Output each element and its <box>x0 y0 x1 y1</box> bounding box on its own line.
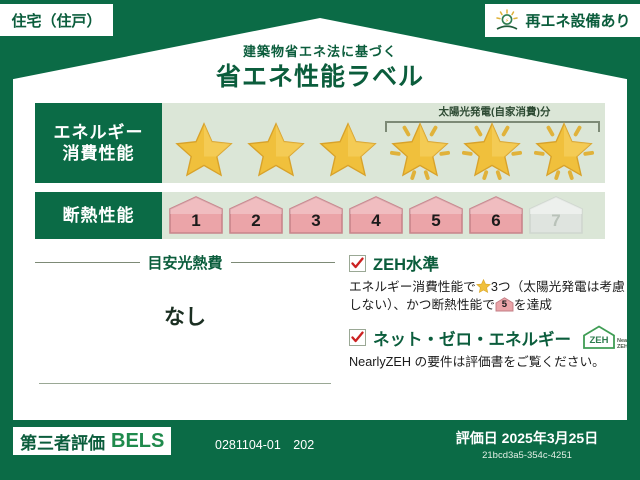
star-icon-solar <box>456 118 528 180</box>
check-icon <box>351 331 364 344</box>
svg-text:⚡: ⚡ <box>505 17 509 24</box>
building-type-text: 住宅（住戸） <box>11 10 101 31</box>
zeh-standard-title: ZEH水準 <box>373 251 439 275</box>
star-icon <box>168 118 240 180</box>
zeh-standard-description: エネルギー消費性能で 3つ（太陽光発電は考慮しない）、かつ断熱性能で 5 を達成 <box>349 278 634 314</box>
performance-rows: エネルギー 消費性能 太陽光発電(自家消費)分 <box>35 103 605 248</box>
energy-performance-row: エネルギー 消費性能 太陽光発電(自家消費)分 <box>35 103 605 183</box>
insulation-performance-row: 断熱性能 1 2 3 4 5 6 <box>35 192 605 239</box>
zeh-house-logo: ZEH Nearly ZEH <box>582 325 634 350</box>
zeh-desc-part1: エネルギー消費性能で <box>349 280 476 294</box>
zeh-logo-subtext: Nearly ZEH <box>617 338 634 350</box>
evaluation-date-block: 評価日 2025年3月25日 21bcd3a5-354c-4251 <box>427 428 627 461</box>
net-zero-energy-title: ネット・ゼロ・エネルギー <box>373 326 571 350</box>
utility-cost-panel: 目安光熱費 なし <box>35 246 335 406</box>
utility-cost-heading-text: 目安光熱費 <box>148 252 223 273</box>
energy-label-line1: エネルギー <box>54 122 144 143</box>
zeh-panel: ZEH水準 エネルギー消費性能で 3つ（太陽光発電は考慮しない）、かつ断熱性能で… <box>335 246 634 406</box>
insulation-rating-body: 1 2 3 4 5 6 7 <box>162 192 605 239</box>
energy-label-line2: 消費性能 <box>63 143 135 164</box>
insulation-grade-number: 3 <box>288 211 344 231</box>
solar-portion-caption: 太陽光発電(自家消費)分 <box>377 104 612 119</box>
utility-cost-divider <box>39 383 331 384</box>
star-icon-solar <box>384 118 456 180</box>
zeh-logo-sub2: ZEH <box>617 344 628 350</box>
zeh-standard-checkbox[interactable] <box>349 255 366 272</box>
insulation-grade-7: 7 <box>528 195 584 236</box>
insulation-grade-inline-number: 5 <box>495 298 514 312</box>
check-icon <box>351 257 364 270</box>
insulation-grade-3: 3 <box>288 195 344 236</box>
building-type-tag: 住宅（住戸） <box>0 4 113 36</box>
star-icon <box>476 279 491 293</box>
insulation-grade-1: 1 <box>168 195 224 236</box>
net-zero-energy-item: ネット・ゼロ・エネルギー ZEH Nearly ZEH <box>349 325 634 371</box>
zeh-standard-heading: ZEH水準 <box>349 251 634 275</box>
insulation-grade-number: 7 <box>528 211 584 231</box>
energy-rating-body: 太陽光発電(自家消費)分 <box>162 103 605 183</box>
rule-left <box>35 262 140 263</box>
insulation-grade-inline-icon: 5 <box>495 297 514 312</box>
net-zero-energy-heading: ネット・ゼロ・エネルギー ZEH Nearly ZEH <box>349 325 634 350</box>
footer: 第三者評価 BELS 0281104-01 202 評価日 2025年3月25日… <box>0 424 640 480</box>
label-card: 建築物省エネ法に基づく 省エネ性能ラベル エネルギー 消費性能 太陽光発電(自家… <box>13 18 627 420</box>
sun-icon: ⚡ <box>494 9 520 33</box>
net-zero-energy-checkbox[interactable] <box>349 329 366 346</box>
zeh-standard-item: ZEH水準 エネルギー消費性能で 3つ（太陽光発電は考慮しない）、かつ断熱性能で… <box>349 251 634 314</box>
insulation-grade-4: 4 <box>348 195 404 236</box>
star-rating <box>168 118 600 180</box>
bels-logo-text: BELS <box>111 430 164 453</box>
insulation-label-text: 断熱性能 <box>63 205 135 226</box>
zeh-logo-text: ZEH <box>590 335 609 346</box>
star-icon <box>240 118 312 180</box>
third-party-eval-text: 第三者評価 <box>20 429 105 454</box>
page-title: 省エネ性能ラベル <box>13 62 627 92</box>
utility-cost-heading: 目安光熱費 <box>35 252 335 273</box>
insulation-grade-number: 6 <box>468 211 524 231</box>
net-zero-energy-description: NearlyZEH の要件は評価書をご覧ください。 <box>349 353 634 371</box>
insulation-grade-number: 4 <box>348 211 404 231</box>
star-icon <box>312 118 384 180</box>
energy-performance-label: 住宅（住戸） ⚡ 再エネ設備あり 建築物省エネ法に基づく 省エネ性能ラ <box>0 0 640 480</box>
rule-right <box>231 262 336 263</box>
insulation-grade-number: 2 <box>228 211 284 231</box>
insulation-performance-label: 断熱性能 <box>35 192 162 239</box>
evaluation-hash: 21bcd3a5-354c-4251 <box>427 450 627 461</box>
zeh-logo-icon: ZEH <box>582 325 616 350</box>
lower-section: 目安光熱費 なし ZEH水準 <box>35 246 605 406</box>
insulation-grade-number: 1 <box>168 211 224 231</box>
renewable-equipment-tag: ⚡ 再エネ設備あり <box>485 4 640 37</box>
energy-performance-label: エネルギー 消費性能 <box>35 103 162 183</box>
insulation-grade-6: 6 <box>468 195 524 236</box>
card-subtitle: 建築物省エネ法に基づく <box>13 44 627 60</box>
utility-cost-value: なし <box>35 301 335 331</box>
zeh-desc-part3: を達成 <box>514 298 552 312</box>
insulation-grade-2: 2 <box>228 195 284 236</box>
bels-tag: 第三者評価 BELS <box>13 427 171 455</box>
renewable-equipment-text: 再エネ設備あり <box>525 10 630 31</box>
card-title-block: 建築物省エネ法に基づく 省エネ性能ラベル <box>13 44 627 92</box>
insulation-grade-scale: 1 2 3 4 5 6 7 <box>168 195 584 236</box>
insulation-grade-number: 5 <box>408 211 464 231</box>
evaluation-date: 評価日 2025年3月25日 <box>427 428 627 448</box>
star-icon-solar <box>528 118 600 180</box>
bels-number: 0281104-01 202 <box>215 434 314 453</box>
insulation-grade-5: 5 <box>408 195 464 236</box>
